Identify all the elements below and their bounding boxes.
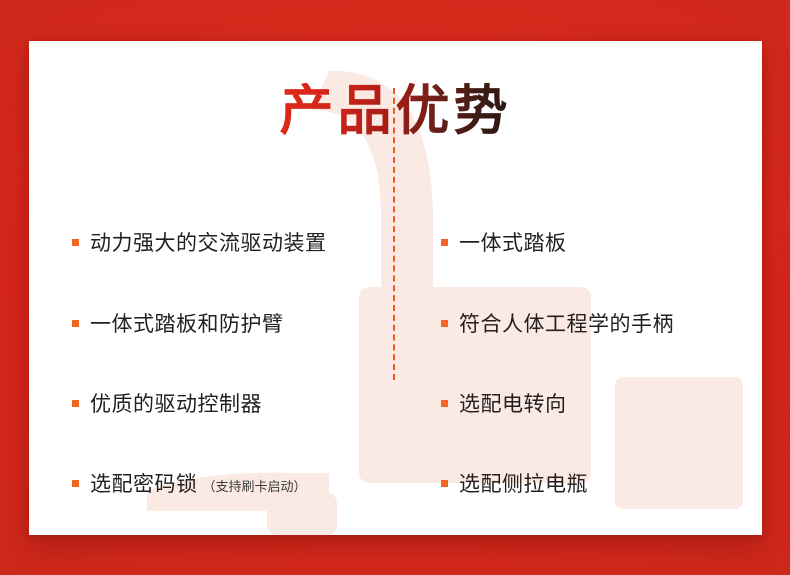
bullet-square-icon <box>72 400 79 407</box>
list-item[interactable]: 选配电转向 <box>441 394 572 415</box>
product-advantages-poster: 产品优势 动力强大的交流驱动装置 一体式踏板和防护臂 优质的驱动 <box>0 0 790 575</box>
bullet-square-icon <box>72 320 79 327</box>
list-item-note: （支持刷卡启动） <box>203 476 307 495</box>
page-title-wrap: 产品优势 <box>29 83 762 140</box>
list-item-label: 一体式踏板 <box>459 233 567 254</box>
list-item-label: 一体式踏板和防护臂 <box>90 314 284 335</box>
list-item-label: 符合人体工程学的手柄 <box>459 314 674 335</box>
list-item[interactable]: 动力强大的交流驱动装置 <box>72 233 332 254</box>
bullet-square-icon <box>441 239 448 246</box>
bullet-square-icon <box>441 480 448 487</box>
bullet-square-icon <box>72 239 79 246</box>
advantages-columns: 动力强大的交流驱动装置 一体式踏板和防护臂 优质的驱动控制器 选配密码锁 <box>29 181 762 535</box>
right-column: 一体式踏板 符合人体工程学的手柄 选配电转向 选配侧拉电瓶 <box>441 181 741 535</box>
left-column: 动力强大的交流驱动装置 一体式踏板和防护臂 优质的驱动控制器 选配密码锁 <box>72 181 392 535</box>
list-item-label: 选配电转向 <box>459 394 567 415</box>
bullet-square-icon <box>441 320 448 327</box>
list-item-label: 优质的驱动控制器 <box>90 394 262 415</box>
list-item[interactable]: 一体式踏板 <box>441 233 572 254</box>
list-item[interactable]: 一体式踏板和防护臂 <box>72 314 289 335</box>
list-item[interactable]: 优质的驱动控制器 <box>72 394 267 415</box>
content-card: 产品优势 动力强大的交流驱动装置 一体式踏板和防护臂 优质的驱动 <box>29 41 762 535</box>
page-title: 产品优势 <box>280 83 512 140</box>
list-item-label: 动力强大的交流驱动装置 <box>90 233 327 254</box>
list-item-label: 选配侧拉电瓶 <box>459 474 588 495</box>
bullet-square-icon <box>441 400 448 407</box>
bullet-square-icon <box>72 480 79 487</box>
list-item-label: 选配密码锁 <box>90 474 198 495</box>
list-item[interactable]: 选配侧拉电瓶 <box>441 474 593 495</box>
list-item[interactable]: 符合人体工程学的手柄 <box>441 314 679 335</box>
list-item[interactable]: 选配密码锁 （支持刷卡启动） <box>72 474 307 495</box>
